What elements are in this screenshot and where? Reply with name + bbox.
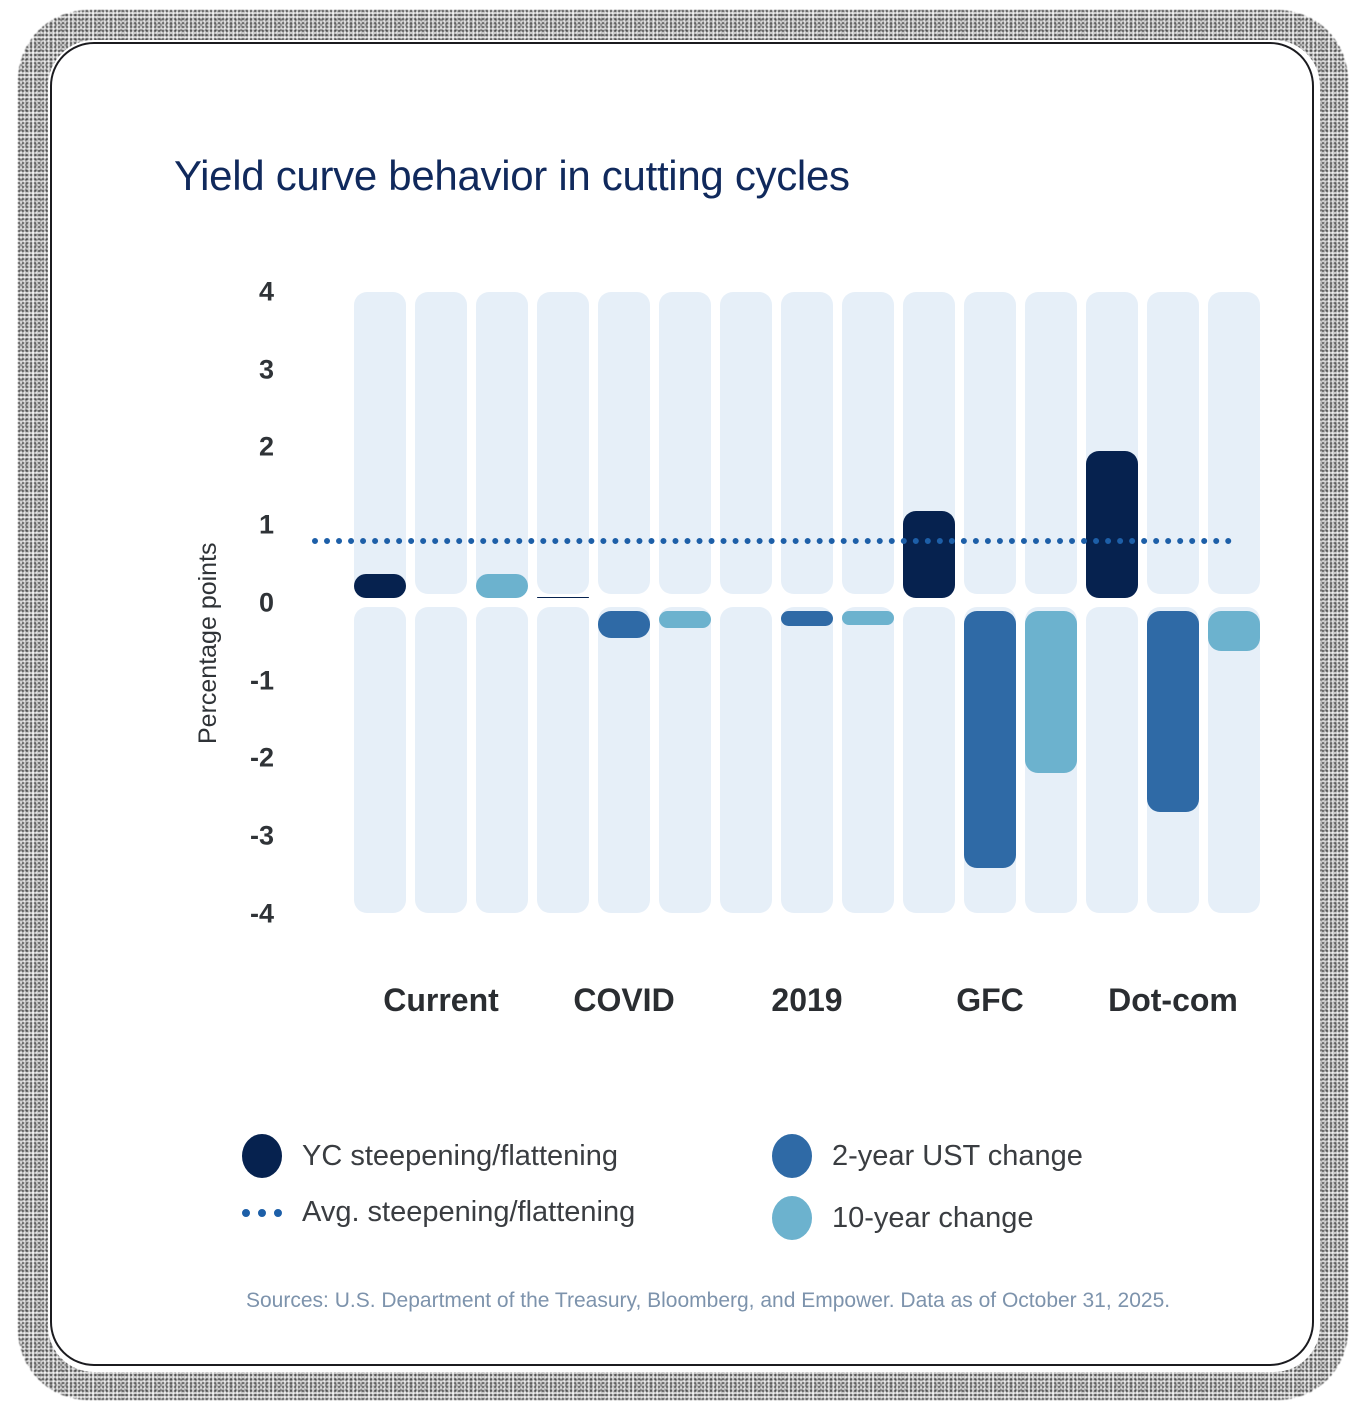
- bar[interactable]: [476, 574, 528, 598]
- x-axis-label: Current: [383, 982, 499, 1019]
- bar-slot[interactable]: [598, 292, 650, 913]
- average-reference-line: [312, 538, 1232, 544]
- bar-track-positive: [537, 292, 589, 594]
- bar-track-positive: [842, 292, 894, 594]
- bar[interactable]: [903, 511, 955, 598]
- plot-area: 43210-1-2-3-4CurrentCOVID2019GFCDot-com: [292, 292, 1192, 937]
- chart-card: Yield curve behavior in cutting cycles P…: [50, 42, 1314, 1366]
- bar-track-positive: [781, 292, 833, 594]
- bar[interactable]: [354, 574, 406, 598]
- legend-label: YC steepening/flattening: [302, 1140, 618, 1173]
- legend-circle-icon: [772, 1134, 812, 1178]
- bar-slot[interactable]: [537, 292, 589, 913]
- y-axis-tick: 3: [259, 354, 274, 385]
- bar-group: [354, 292, 529, 913]
- x-axis-label: Dot-com: [1108, 982, 1238, 1019]
- bar-track-positive: [415, 292, 467, 594]
- legend-circle-icon: [242, 1134, 282, 1178]
- bar-slot[interactable]: [903, 292, 955, 913]
- y-axis-tick: 0: [259, 587, 274, 618]
- bar-slot[interactable]: [415, 292, 467, 913]
- y-axis-tick: -4: [250, 898, 274, 929]
- legend-item[interactable]: 2-year UST change: [772, 1134, 1083, 1178]
- bar-track-negative: [659, 607, 711, 913]
- bar-track-negative: [476, 607, 528, 913]
- bar-track-positive: [1208, 292, 1260, 594]
- bar-slot[interactable]: [1086, 292, 1138, 913]
- bar-slot[interactable]: [354, 292, 406, 913]
- bar-group: [1086, 292, 1261, 913]
- x-axis-label: GFC: [956, 982, 1024, 1019]
- bar[interactable]: [537, 597, 589, 598]
- bar-track-positive: [598, 292, 650, 594]
- bar-slot[interactable]: [720, 292, 772, 913]
- legend-label: 10-year change: [832, 1202, 1034, 1235]
- y-axis-tick: 4: [259, 277, 274, 308]
- legend-label: Avg. steepening/flattening: [302, 1196, 635, 1229]
- bar-track-positive: [659, 292, 711, 594]
- bar[interactable]: [842, 611, 894, 625]
- bar[interactable]: [1025, 611, 1077, 773]
- bar-slot[interactable]: [659, 292, 711, 913]
- y-axis-tick: -3: [250, 820, 274, 851]
- legend-item[interactable]: YC steepening/flattening: [242, 1134, 618, 1178]
- bar-track-positive: [476, 292, 528, 594]
- y-axis-tick: 2: [259, 432, 274, 463]
- bar-track-negative: [537, 607, 589, 913]
- bar-track-positive: [1025, 292, 1077, 594]
- bar-track-positive: [964, 292, 1016, 594]
- bar[interactable]: [598, 611, 650, 638]
- bar-group: [720, 292, 895, 913]
- legend-item[interactable]: 10-year change: [772, 1196, 1034, 1240]
- source-note: Sources: U.S. Department of the Treasury…: [246, 1289, 1170, 1313]
- bar-slot[interactable]: [842, 292, 894, 913]
- bar-track-negative: [1208, 607, 1260, 913]
- bar-group: [537, 292, 712, 913]
- legend-item[interactable]: Avg. steepening/flattening: [242, 1196, 635, 1229]
- bar-slot[interactable]: [781, 292, 833, 913]
- y-axis-tick: -1: [250, 665, 274, 696]
- bar-track-positive: [1147, 292, 1199, 594]
- page-title: Yield curve behavior in cutting cycles: [174, 152, 850, 200]
- bar[interactable]: [964, 611, 1016, 868]
- bar-group: [903, 292, 1078, 913]
- bar[interactable]: [1208, 611, 1260, 651]
- legend-circle-icon: [772, 1196, 812, 1240]
- bar-track-negative: [781, 607, 833, 913]
- bar-track-negative: [903, 607, 955, 913]
- y-axis-tick: 1: [259, 510, 274, 541]
- bar-track-positive: [354, 292, 406, 594]
- bar[interactable]: [1086, 451, 1138, 598]
- bar-track-negative: [720, 607, 772, 913]
- legend-dotted-line-icon: [242, 1209, 282, 1217]
- bar-track-negative: [415, 607, 467, 913]
- bar-slot[interactable]: [1025, 292, 1077, 913]
- bar-track-negative: [1086, 607, 1138, 913]
- bar[interactable]: [1147, 611, 1199, 812]
- bar-slot[interactable]: [1147, 292, 1199, 913]
- x-axis-label: 2019: [771, 982, 842, 1019]
- x-axis-label: COVID: [573, 982, 674, 1019]
- bar-track-negative: [354, 607, 406, 913]
- y-axis-title: Percentage points: [194, 542, 223, 744]
- legend-label: 2-year UST change: [832, 1140, 1083, 1173]
- bar-track-negative: [842, 607, 894, 913]
- bar-slot[interactable]: [964, 292, 1016, 913]
- bar-track-positive: [720, 292, 772, 594]
- bar[interactable]: [781, 611, 833, 626]
- y-axis-tick: -2: [250, 743, 274, 774]
- bar-track-negative: [598, 607, 650, 913]
- bar[interactable]: [659, 611, 711, 629]
- bar-slot[interactable]: [476, 292, 528, 913]
- bar-slot[interactable]: [1208, 292, 1260, 913]
